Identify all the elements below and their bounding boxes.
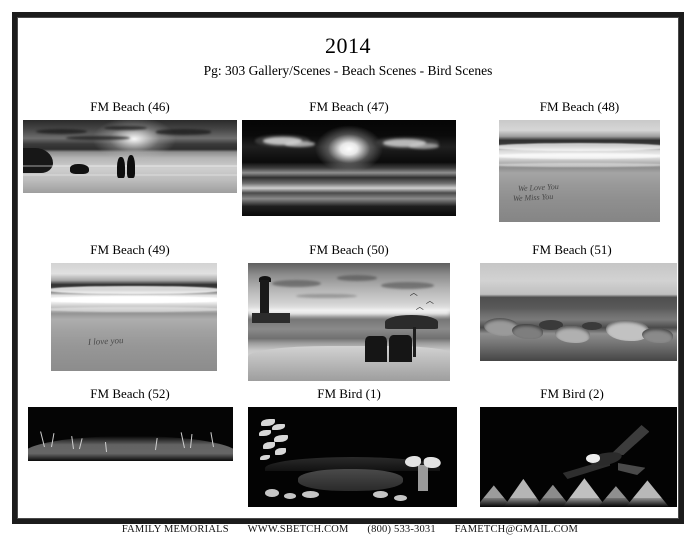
beach-umbrella — [385, 315, 438, 329]
gallery-item-9[interactable]: FM Bird (2) — [462, 386, 682, 507]
photo-doves-scene — [248, 407, 457, 507]
photo-sand-writing-48: We Love You We Miss You — [499, 120, 660, 222]
gallery-item-8[interactable]: FM Bird (1) — [242, 386, 456, 507]
gallery-item-7[interactable]: FM Beach (52) — [23, 386, 237, 461]
sand-writing-line-2: We Miss You — [513, 192, 554, 203]
photo-rocky-coast — [480, 263, 677, 361]
lighthouse-base — [252, 313, 290, 324]
footer-phone[interactable]: (800) 533-3031 — [367, 524, 435, 535]
gallery-thumbnail-fm-bird-1[interactable] — [248, 407, 457, 507]
photo-lighthouse-chairs: ︿ ︿ ︿ — [248, 263, 450, 381]
gallery-thumbnail-fm-beach-48[interactable]: We Love You We Miss You — [499, 120, 660, 222]
gallery-item-6[interactable]: FM Beach (51) — [462, 242, 682, 361]
dune-ridge — [28, 436, 233, 461]
page-subtitle: Pg: 303 Gallery/Scenes - Beach Scenes - … — [17, 63, 679, 79]
gallery-item-caption: FM Beach (50) — [242, 242, 456, 258]
gallery-item-caption: FM Beach (49) — [23, 242, 237, 258]
dove-2 — [424, 457, 441, 468]
lighthouse-tower — [260, 280, 268, 315]
gallery-item-caption: FM Beach (51) — [462, 242, 682, 258]
sand-writing-line-1: I love you — [87, 336, 123, 348]
gallery-item-caption: FM Beach (47) — [242, 99, 456, 115]
page-frame: 2014 Pg: 303 Gallery/Scenes - Beach Scen… — [12, 12, 684, 524]
gallery-item-1[interactable]: FM Beach (46) — [23, 99, 237, 193]
gallery-item-3[interactable]: FM Beach (48) We Love You We Miss You — [492, 99, 667, 222]
gallery-thumbnail-fm-beach-49[interactable]: I love you — [51, 263, 217, 371]
eagle-wing-upper — [610, 425, 649, 455]
photo-dark-dunes — [28, 407, 233, 461]
photo-sand-writing-49: I love you — [51, 263, 217, 371]
gallery-thumbnail-fm-beach-46[interactable] — [23, 120, 237, 193]
gallery-thumbnail-fm-beach-52[interactable] — [28, 407, 233, 461]
mountain-range — [480, 471, 677, 507]
gallery-item-caption: FM Bird (1) — [242, 386, 456, 402]
footer-company: FAMILY MEMORIALS — [122, 524, 229, 535]
person-silhouette-2 — [127, 155, 135, 178]
catalog-page: 2014 Pg: 303 Gallery/Scenes - Beach Scen… — [0, 0, 700, 541]
photo-ocean-sunrise — [242, 120, 456, 216]
dog-silhouette — [70, 164, 89, 174]
beach-chair-1 — [365, 336, 387, 362]
gallery-thumbnail-fm-bird-2[interactable] — [480, 407, 677, 507]
sand-writing-line-1: We Love You — [518, 182, 559, 193]
gallery-item-caption: FM Beach (52) — [23, 386, 237, 402]
sand-dune — [248, 346, 450, 381]
gallery-grid: FM Beach (46) — [17, 87, 679, 519]
gallery-item-5[interactable]: FM Beach (50) ︿ ︿ ︿ — [242, 242, 456, 381]
gallery-item-4[interactable]: FM Beach (49) I love you — [23, 242, 237, 371]
gallery-thumbnail-fm-beach-50[interactable]: ︿ ︿ ︿ — [248, 263, 450, 381]
gallery-thumbnail-fm-beach-51[interactable] — [480, 263, 677, 361]
gallery-item-caption: FM Beach (46) — [23, 99, 237, 115]
dove-1 — [405, 456, 422, 467]
gallery-item-caption: FM Beach (48) — [492, 99, 667, 115]
page-title: 2014 — [17, 33, 679, 59]
footer-website[interactable]: WWW.SBETCH.COM — [248, 524, 349, 535]
gallery-item-caption: FM Bird (2) — [462, 386, 682, 402]
gallery-item-2[interactable]: FM Beach (47) — [242, 99, 456, 216]
photo-eagle-mountains — [480, 407, 677, 507]
photo-beach-walk — [23, 120, 237, 193]
fence-post — [418, 465, 427, 491]
person-silhouette-1 — [117, 157, 125, 179]
gallery-thumbnail-fm-beach-47[interactable] — [242, 120, 456, 216]
footer-email[interactable]: FAMETCH@GMAIL.COM — [455, 524, 578, 535]
beach-chair-2 — [389, 335, 411, 362]
stream-path — [298, 469, 403, 491]
umbrella-pole — [413, 327, 415, 358]
footer: FAMILY MEMORIALS WWW.SBETCH.COM (800) 53… — [0, 524, 700, 535]
dune-grass — [23, 148, 53, 173]
